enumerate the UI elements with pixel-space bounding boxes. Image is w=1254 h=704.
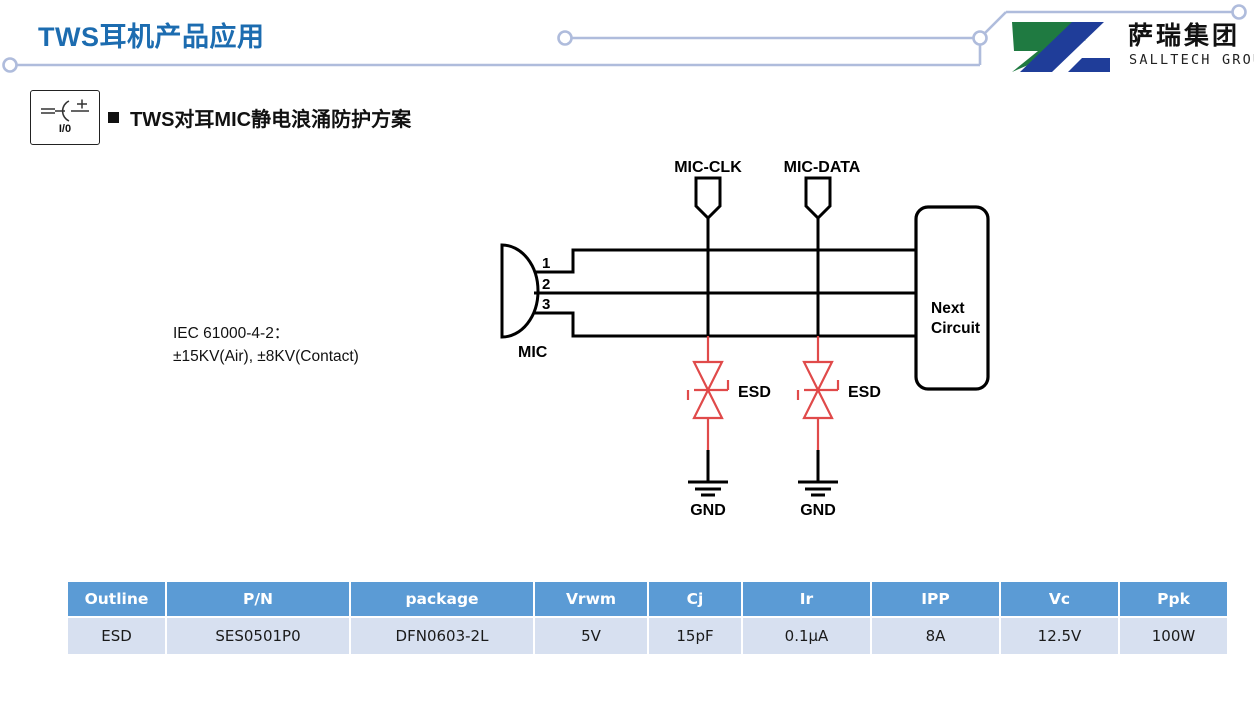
- mic-clk-label: MIC-CLK: [674, 159, 742, 176]
- gnd-1-label: GND: [690, 502, 726, 519]
- ground-symbols: [688, 450, 838, 495]
- deco-node-junction: [974, 32, 987, 45]
- section-title: TWS对耳MIC静电浪涌防护方案: [130, 103, 411, 132]
- signal-wires: [534, 216, 916, 336]
- mic-pin-1-label: 1: [542, 255, 550, 272]
- cell-vc: 12.5V: [1001, 618, 1118, 654]
- logo-chinese-name: 萨瑞集团: [1128, 16, 1240, 52]
- table-header-ppk: Ppk: [1120, 582, 1227, 616]
- spec-table: Outline P/N package Vrwm Cj Ir IPP Vc Pp…: [66, 580, 1229, 656]
- deco-node-left: [4, 59, 17, 72]
- mic-pin-2-label: 2: [542, 276, 550, 293]
- io-symbol-icon: [31, 91, 99, 144]
- cell-cj: 15pF: [649, 618, 741, 654]
- table-header-row: Outline P/N package Vrwm Cj Ir IPP Vc Pp…: [68, 582, 1227, 616]
- cell-ir: 0.1μA: [743, 618, 870, 654]
- esd-1-label: ESD: [738, 384, 771, 401]
- mic-data-label: MIC-DATA: [784, 159, 861, 176]
- table-header-vrwm: Vrwm: [535, 582, 647, 616]
- table-row: ESD SES0501P0 DFN0603-2L 5V 15pF 0.1μA 8…: [68, 618, 1227, 654]
- table-header-package: package: [351, 582, 533, 616]
- gnd-2-label: GND: [800, 502, 836, 519]
- io-badge-label: I/0: [31, 123, 99, 135]
- next-circuit-line2: Circuit: [931, 320, 980, 337]
- logo-english-name: SALLTECH GROUP: [1129, 52, 1254, 68]
- company-logo: 萨瑞集团 SALLTECH GROUP: [1008, 16, 1250, 78]
- table-header-pn: P/N: [167, 582, 349, 616]
- cell-package: DFN0603-2L: [351, 618, 533, 654]
- cell-ipp: 8A: [872, 618, 999, 654]
- mic-connector-icon: [502, 245, 538, 337]
- deco-node-mid: [559, 32, 572, 45]
- salltech-logo-icon: [1008, 18, 1120, 76]
- table-header-ir: Ir: [743, 582, 870, 616]
- table-header-cj: Cj: [649, 582, 741, 616]
- esd-branch-wires: [708, 336, 818, 466]
- iec-standard-note: IEC 61000-4-2： ±15KV(Air), ±8KV(Contact): [173, 322, 359, 368]
- next-circuit-block: [916, 207, 988, 389]
- next-circuit-line1: Next: [931, 300, 965, 317]
- page-title: TWS耳机产品应用: [38, 15, 265, 54]
- esd-protection-schematic: MIC 1 2 3 MIC-CLK MIC-DATA ESD ESD GND G…: [480, 150, 1100, 540]
- table-header-outline: Outline: [68, 582, 165, 616]
- slide-root: TWS耳机产品应用 萨瑞集团 SALLTECH GROUP: [0, 0, 1254, 704]
- table-header-vc: Vc: [1001, 582, 1118, 616]
- cell-vrwm: 5V: [535, 618, 647, 654]
- table-header-ipp: IPP: [872, 582, 999, 616]
- esd-diode-1-icon: [688, 362, 728, 418]
- mic-label: MIC: [518, 344, 548, 361]
- mic-data-pad-icon: [806, 178, 830, 218]
- mic-clk-pad-icon: [696, 178, 720, 218]
- mic-pin-3-label: 3: [542, 296, 550, 313]
- io-badge-icon: I/0: [30, 90, 100, 145]
- cell-pn: SES0501P0: [167, 618, 349, 654]
- iec-note-line2: ±15KV(Air), ±8KV(Contact): [173, 345, 359, 368]
- section-bullet-icon: [108, 112, 119, 123]
- esd-diode-2-icon: [798, 362, 838, 418]
- iec-note-line1: IEC 61000-4-2：: [173, 322, 359, 345]
- cell-ppk: 100W: [1120, 618, 1227, 654]
- esd-2-label: ESD: [848, 384, 881, 401]
- cell-outline: ESD: [68, 618, 165, 654]
